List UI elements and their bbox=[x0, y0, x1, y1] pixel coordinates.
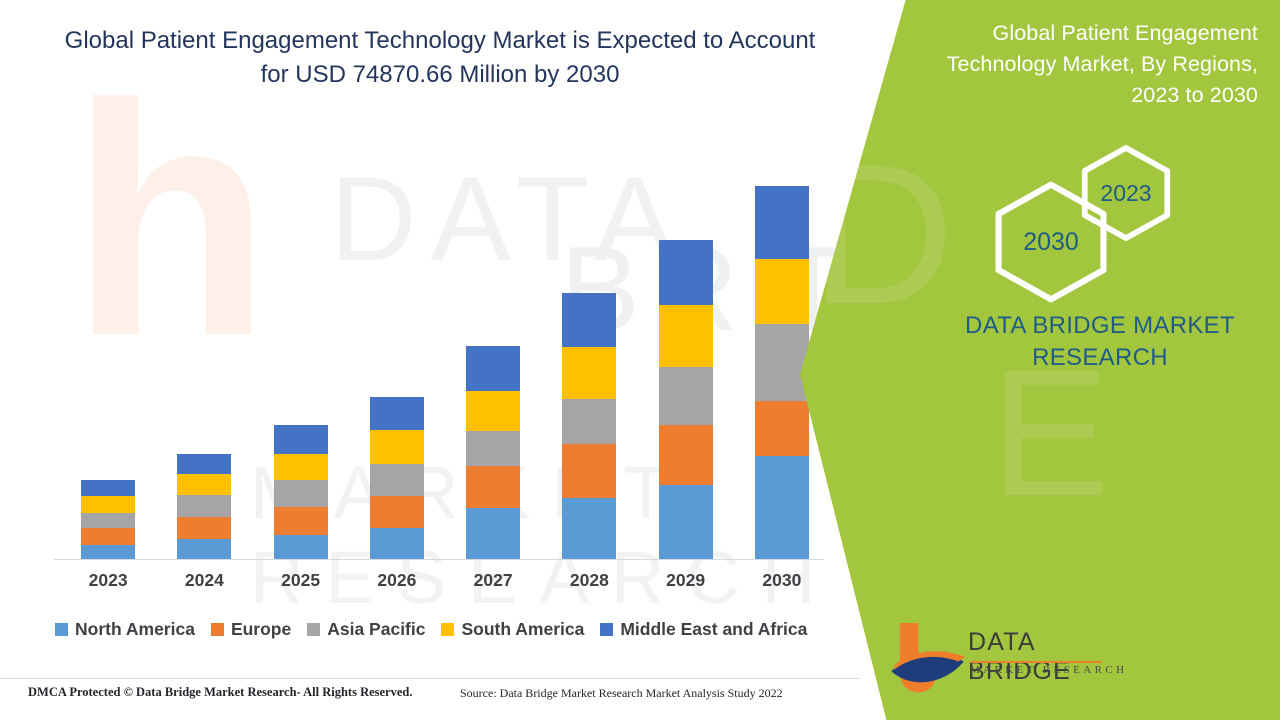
legend-item[interactable]: Asia Pacific bbox=[307, 619, 425, 640]
legend-item[interactable]: North America bbox=[55, 619, 195, 640]
footer-divider bbox=[0, 678, 860, 679]
bar-segment bbox=[177, 517, 231, 539]
legend-label: Middle East and Africa bbox=[620, 619, 807, 640]
bar-2023 bbox=[81, 480, 135, 559]
bar-segment bbox=[177, 454, 231, 474]
legend-label: Asia Pacific bbox=[327, 619, 425, 640]
bar-segment bbox=[81, 480, 135, 496]
x-axis-line bbox=[54, 559, 824, 560]
bar-segment bbox=[562, 399, 616, 444]
hexagon-2023: 2023 bbox=[1078, 145, 1174, 241]
footer-copyright: DMCA Protected © Data Bridge Market Rese… bbox=[28, 685, 413, 700]
logo-text-sub: MARKET RESEARCH bbox=[970, 664, 1127, 676]
bar-segment bbox=[177, 474, 231, 495]
hexagon-group: 2030 2023 bbox=[990, 145, 1190, 275]
bar-segment bbox=[466, 346, 520, 391]
x-tick-2030: 2030 bbox=[734, 570, 830, 591]
legend-label: Europe bbox=[231, 619, 291, 640]
logo-mark-icon bbox=[890, 618, 968, 694]
footer-source: Source: Data Bridge Market Research Mark… bbox=[460, 686, 783, 701]
bar-2028 bbox=[562, 293, 616, 559]
legend-swatch-icon bbox=[211, 623, 224, 636]
legend-swatch-icon bbox=[307, 623, 320, 636]
bar-segment bbox=[659, 485, 713, 559]
bar-segment bbox=[466, 431, 520, 466]
legend-item[interactable]: Europe bbox=[211, 619, 291, 640]
x-tick-2025: 2025 bbox=[253, 570, 349, 591]
x-tick-2027: 2027 bbox=[445, 570, 541, 591]
bar-2025 bbox=[274, 425, 328, 559]
bar-segment bbox=[466, 508, 520, 559]
bar-segment bbox=[370, 397, 424, 430]
x-tick-2028: 2028 bbox=[541, 570, 637, 591]
bar-segment bbox=[562, 444, 616, 498]
bar-segment bbox=[755, 401, 809, 456]
bar-segment bbox=[274, 425, 328, 454]
legend-item[interactable]: South America bbox=[441, 619, 584, 640]
bar-segment bbox=[466, 391, 520, 431]
bar-2029 bbox=[659, 240, 713, 559]
bar-segment bbox=[755, 456, 809, 559]
bar-segment bbox=[177, 495, 231, 517]
data-bridge-logo: DATA BRIDGE MARKET RESEARCH bbox=[890, 618, 1140, 698]
plot-area bbox=[60, 120, 830, 559]
stacked-bar-chart: 20232024202520262027202820292030 bbox=[40, 120, 840, 565]
logo-divider bbox=[970, 661, 1102, 663]
bar-segment bbox=[274, 535, 328, 559]
bar-segment bbox=[274, 507, 328, 535]
x-axis-tick-labels: 20232024202520262027202820292030 bbox=[60, 570, 830, 600]
bar-segment bbox=[562, 498, 616, 559]
logo-text-main: DATA BRIDGE bbox=[968, 628, 1140, 686]
hexagon-2023-label: 2023 bbox=[1078, 145, 1174, 241]
legend-label: South America bbox=[461, 619, 584, 640]
bar-segment bbox=[81, 513, 135, 528]
bar-segment bbox=[466, 466, 520, 508]
bar-segment bbox=[274, 454, 328, 480]
chart-legend: North AmericaEuropeAsia PacificSouth Ame… bbox=[55, 615, 845, 643]
bar-segment bbox=[81, 496, 135, 513]
bar-2024 bbox=[177, 454, 231, 559]
legend-swatch-icon bbox=[55, 623, 68, 636]
bar-segment bbox=[274, 480, 328, 507]
bar-segment bbox=[659, 240, 713, 305]
legend-label: North America bbox=[75, 619, 195, 640]
bar-segment bbox=[755, 324, 809, 401]
bar-segment bbox=[370, 464, 424, 496]
bar-segment bbox=[562, 347, 616, 399]
bar-segment bbox=[370, 496, 424, 528]
legend-item[interactable]: Middle East and Africa bbox=[600, 619, 807, 640]
bar-segment bbox=[659, 367, 713, 425]
bar-segment bbox=[370, 528, 424, 559]
x-tick-2023: 2023 bbox=[60, 570, 156, 591]
bar-segment bbox=[562, 293, 616, 347]
bar-segment bbox=[659, 425, 713, 485]
bar-2026 bbox=[370, 397, 424, 559]
bar-segment bbox=[755, 186, 809, 259]
legend-swatch-icon bbox=[441, 623, 454, 636]
page-title: Global Patient Engagement Technology Mar… bbox=[60, 24, 820, 92]
legend-swatch-icon bbox=[600, 623, 613, 636]
bar-segment bbox=[370, 430, 424, 464]
bar-segment bbox=[81, 545, 135, 559]
brand-name: DATA BRIDGE MARKET RESEARCH bbox=[950, 310, 1250, 374]
bar-segment bbox=[659, 305, 713, 367]
x-tick-2029: 2029 bbox=[638, 570, 734, 591]
x-tick-2024: 2024 bbox=[156, 570, 252, 591]
bar-segment bbox=[177, 539, 231, 559]
panel-title: Global Patient Engagement Technology Mar… bbox=[918, 18, 1258, 111]
bar-segment bbox=[755, 259, 809, 324]
x-tick-2026: 2026 bbox=[349, 570, 445, 591]
bar-segment bbox=[81, 528, 135, 545]
bar-2027 bbox=[466, 346, 520, 559]
